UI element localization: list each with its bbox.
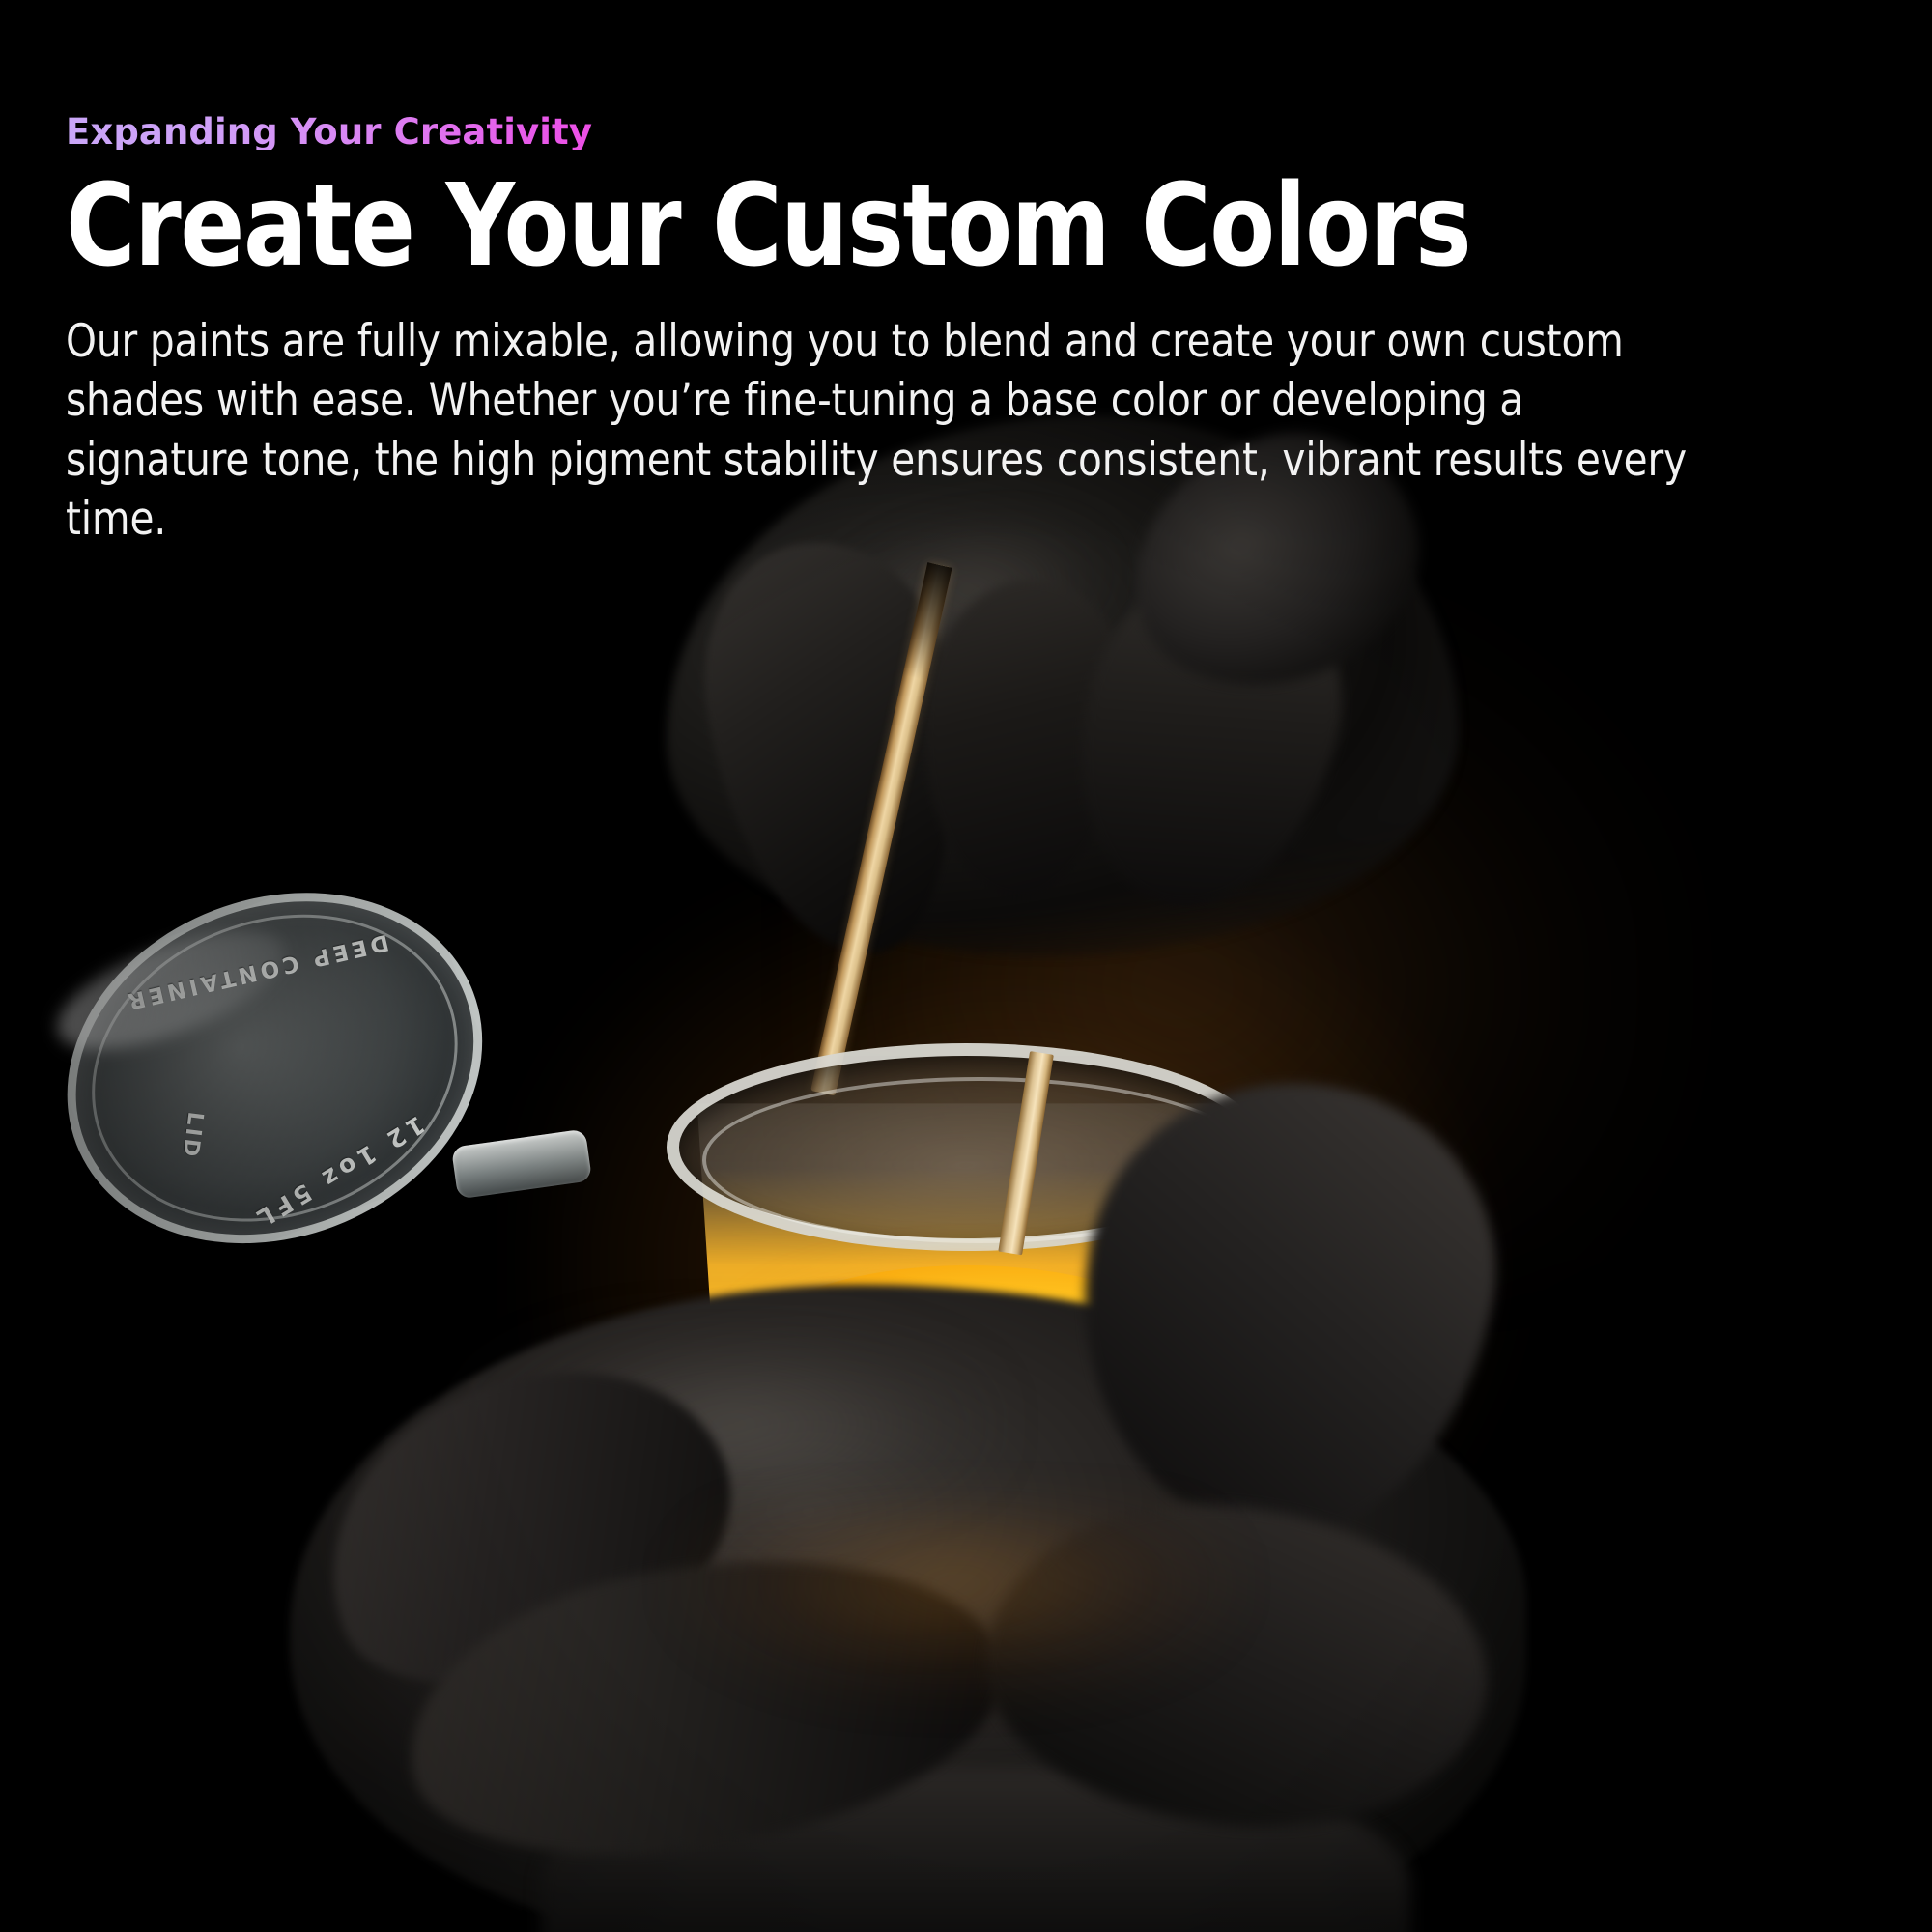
lid-emboss-line-2: DEEP CONTAINER (122, 929, 391, 1014)
lid-emboss-line-1: 12 1oz 5FL (248, 1110, 430, 1235)
text-block: Expanding Your Creativity Create Your Cu… (66, 114, 1882, 549)
lid-embossed-text: 12 1oz 5FL DEEP CONTAINER LID (15, 834, 533, 1301)
container-lid: 12 1oz 5FL DEEP CONTAINER LID (15, 834, 540, 1320)
body-paragraph: Our paints are fully mixable, allowing y… (66, 312, 1698, 548)
page-title: Create Your Custom Colors (66, 167, 1754, 283)
warm-light-spill (676, 1507, 1236, 1700)
eyebrow-label: Expanding Your Creativity (66, 114, 592, 150)
lid-emboss-line-3: LID (178, 1110, 208, 1160)
promo-card: 12 1oz 5FL DEEP CONTAINER LID Expanding … (0, 0, 1932, 1932)
